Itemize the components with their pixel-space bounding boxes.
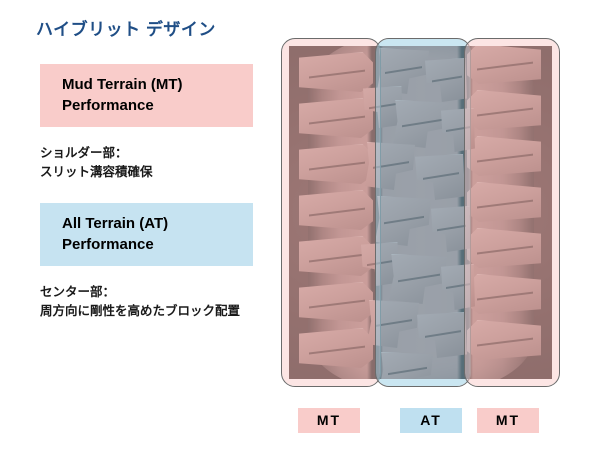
note-shoulder-detail: スリット溝容積確保 xyxy=(40,163,300,182)
note-shoulder: ショルダー部： スリット溝容積確保 xyxy=(40,144,300,183)
callout-mt-line2: Performance xyxy=(62,95,253,116)
callout-all-terrain: All Terrain (AT) Performance xyxy=(40,203,253,266)
slide-canvas: ハイブリット デザイン Mud Terrain (MT) Performance… xyxy=(0,0,600,450)
callout-mt-line1: Mud Terrain (MT) xyxy=(62,74,253,95)
note-center-heading: センター部： xyxy=(40,283,300,302)
zone-overlay-mt-left xyxy=(281,38,381,387)
legend-chip-at-center: AT xyxy=(400,408,462,433)
legend-chip-mt-left: MT xyxy=(298,408,360,433)
page-title: ハイブリット デザイン xyxy=(36,15,216,40)
callout-at-line2: Performance xyxy=(62,234,253,255)
zone-overlay-mt-right xyxy=(464,38,560,387)
note-center: センター部： 周方向に剛性を高めたブロック配置 xyxy=(40,283,300,322)
note-center-detail: 周方向に剛性を高めたブロック配置 xyxy=(40,302,300,321)
legend-chip-mt-right: MT xyxy=(477,408,539,433)
tire-tread-figure xyxy=(281,38,560,387)
zone-overlay-at-center xyxy=(375,38,471,387)
callout-at-line1: All Terrain (AT) xyxy=(62,213,253,234)
callout-mud-terrain: Mud Terrain (MT) Performance xyxy=(40,64,253,127)
note-shoulder-heading: ショルダー部： xyxy=(40,144,300,163)
